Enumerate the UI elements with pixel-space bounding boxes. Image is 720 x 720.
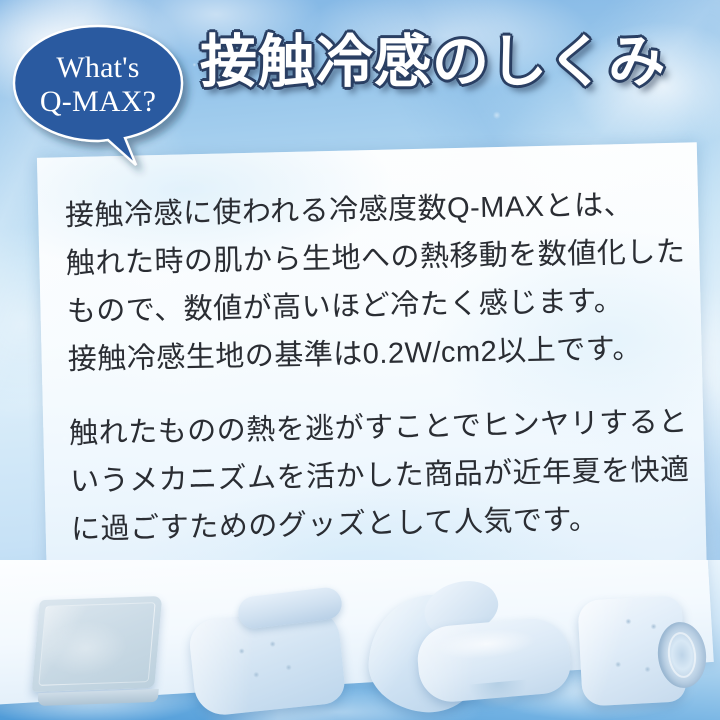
- paragraph-1-line-3: もので、数値が高いほど冷たく感じます。: [67, 285, 624, 328]
- product-quilted-mattress-pad: [192, 590, 350, 710]
- page-title: 接触冷感のしくみ: [200, 33, 712, 93]
- product-head-pillow: [418, 622, 570, 698]
- product-rolled-quilt: [580, 598, 706, 706]
- paragraph-1: 接触冷感に使われる冷感度数Q-MAXとは、 触れた時の肌から生地への熱移動を数値…: [65, 180, 693, 384]
- pad-surface: [32, 596, 163, 692]
- head-pillow-contour: [469, 680, 529, 711]
- pad-edge: [37, 689, 159, 706]
- product-photo-strip: [0, 560, 720, 720]
- product-infographic: What's Q-MAX? 接触冷感のしくみ 接触冷感に使われる冷感度数Q-MA…: [0, 0, 720, 720]
- what-is-qmax-badge: What's Q-MAX?: [12, 24, 198, 166]
- body-copy: 接触冷感に使われる冷感度数Q-MAXとは、 触れた時の肌から生地への熱移動を数値…: [65, 180, 696, 554]
- paragraph-2-line-3: に過ごすためのグッズとして人気です。: [71, 504, 599, 546]
- speech-bubble-icon: [12, 24, 198, 166]
- paragraph-1-line-2: 触れた時の肌から生地への熱移動を数値化した: [66, 236, 686, 280]
- paragraph-2-line-1: 触れたものの熱を逃がすことでヒンヤリすると: [69, 406, 688, 450]
- paragraph-2: 触れたものの熱を逃がすことでヒンヤリすると いうメカニズムを活かした商品が近年夏…: [69, 398, 696, 554]
- paragraph-2-line-2: いうメカニズムを活かした商品が近年夏を快適: [70, 454, 690, 498]
- paragraph-1-line-1: 接触冷感に使われる冷感度数Q-MAXとは、: [65, 189, 634, 232]
- paragraph-1-line-4: 接触冷感生地の基準は0.2W/cm2以上です。: [68, 333, 643, 376]
- product-folded-cooling-pad: [30, 598, 168, 706]
